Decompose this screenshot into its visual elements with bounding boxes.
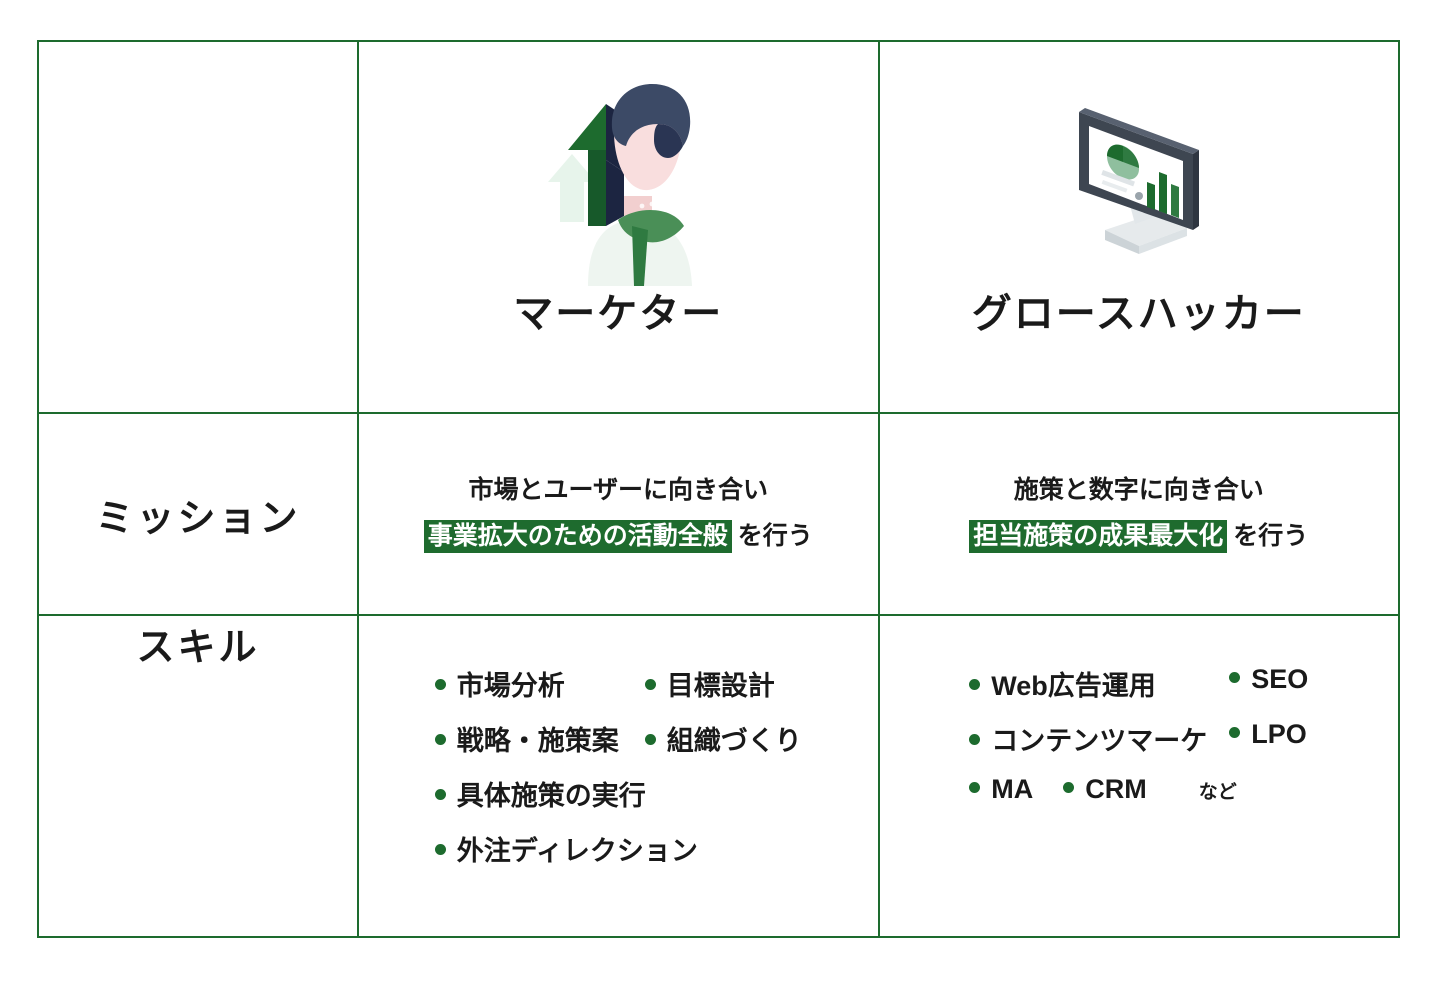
- mission-line-1: 市場とユーザーに向き合い: [359, 469, 878, 513]
- list-item: コンテンツマーケ: [969, 719, 1207, 758]
- skills-etc-label: など: [1199, 777, 1237, 804]
- list-item: Web広告運用: [969, 664, 1207, 703]
- skills-list: 市場分析 目標設計 戦略・施策案: [435, 664, 802, 868]
- table-header-row: マーケター: [38, 41, 1399, 413]
- column-header-label: グロースハッカー: [972, 292, 1306, 336]
- mission-line-1: 施策と数字に向き合い: [880, 469, 1399, 513]
- list-item: 具体施策の実行: [435, 774, 802, 813]
- skills-cell-marketer: 市場分析 目標設計 戦略・施策案: [358, 615, 879, 937]
- mission-suffix: を行う: [738, 522, 813, 550]
- bullet-icon: [435, 679, 446, 690]
- skill-label: コンテンツマーケ: [991, 719, 1207, 758]
- mission-highlight: 担当施策の成果最大化: [969, 520, 1227, 553]
- bullet-icon: [969, 679, 980, 690]
- mission-cell-growth-hacker: 施策と数字に向き合い 担当施策の成果最大化を行う: [879, 413, 1400, 615]
- skill-label: 市場分析: [457, 664, 565, 703]
- list-item: 組織づくり: [645, 719, 802, 758]
- skill-label: SEO: [1251, 664, 1308, 695]
- skill-label: 組織づくり: [667, 719, 802, 758]
- row-label-skill: スキル: [38, 615, 358, 937]
- list-item: 市場分析: [435, 664, 619, 703]
- mission-highlight: 事業拡大のための活動全般: [424, 520, 732, 553]
- column-header-marketer: マーケター: [358, 41, 879, 413]
- skill-label: 外注ディレクション: [457, 829, 698, 868]
- list-item: LPO: [1229, 719, 1308, 758]
- column-header-label: マーケター: [513, 292, 723, 336]
- comparison-table-page: マーケター: [0, 0, 1440, 983]
- list-item: 戦略・施策案: [435, 719, 619, 758]
- bullet-icon: [435, 789, 446, 800]
- skill-label: MA: [991, 774, 1033, 805]
- marketer-vs-growthhacker-comparison-table: マーケター: [37, 40, 1400, 938]
- bullet-icon: [645, 734, 656, 745]
- skill-label: 目標設計: [667, 664, 775, 703]
- table-row-mission: ミッション 市場とユーザーに向き合い 事業拡大のための活動全般を行う 施策と数字…: [38, 413, 1399, 615]
- bullet-icon: [435, 734, 446, 745]
- skill-label: LPO: [1251, 719, 1307, 750]
- mission-suffix: を行う: [1233, 522, 1308, 550]
- bullet-icon: [969, 734, 980, 745]
- bullet-icon: [1063, 782, 1074, 793]
- bullet-icon: [969, 782, 980, 793]
- skill-label: 具体施策の実行: [457, 774, 646, 813]
- skills-list: Web広告運用 SEO コンテンツマーケ: [969, 664, 1308, 805]
- table-row-skill: スキル 市場分析 目標設計: [38, 615, 1399, 937]
- list-item-row: MA CRM など: [969, 774, 1308, 805]
- skills-cell-growth-hacker: Web広告運用 SEO コンテンツマーケ: [879, 615, 1400, 937]
- mission-cell-marketer: 市場とユーザーに向き合い 事業拡大のための活動全般を行う: [358, 413, 879, 615]
- skill-label: CRM: [1085, 774, 1147, 805]
- list-item: SEO: [1229, 664, 1308, 703]
- column-header-growth-hacker: グロースハッカー: [879, 41, 1400, 413]
- skill-label: 戦略・施策案: [457, 719, 619, 758]
- list-item: MA: [969, 774, 1033, 805]
- list-item: 外注ディレクション: [435, 829, 802, 868]
- bullet-icon: [645, 679, 656, 690]
- skill-label: Web広告運用: [991, 664, 1156, 703]
- row-label-mission: ミッション: [38, 413, 358, 615]
- monitor-analytics-dashboard-icon: [1023, 54, 1255, 286]
- bullet-icon: [435, 844, 446, 855]
- list-item: 目標設計: [645, 664, 802, 703]
- table-corner-cell: [38, 41, 358, 413]
- list-item: CRM: [1063, 774, 1147, 805]
- person-with-up-arrow-icon: [502, 54, 734, 286]
- bullet-icon: [1229, 672, 1240, 683]
- bullet-icon: [1229, 727, 1240, 738]
